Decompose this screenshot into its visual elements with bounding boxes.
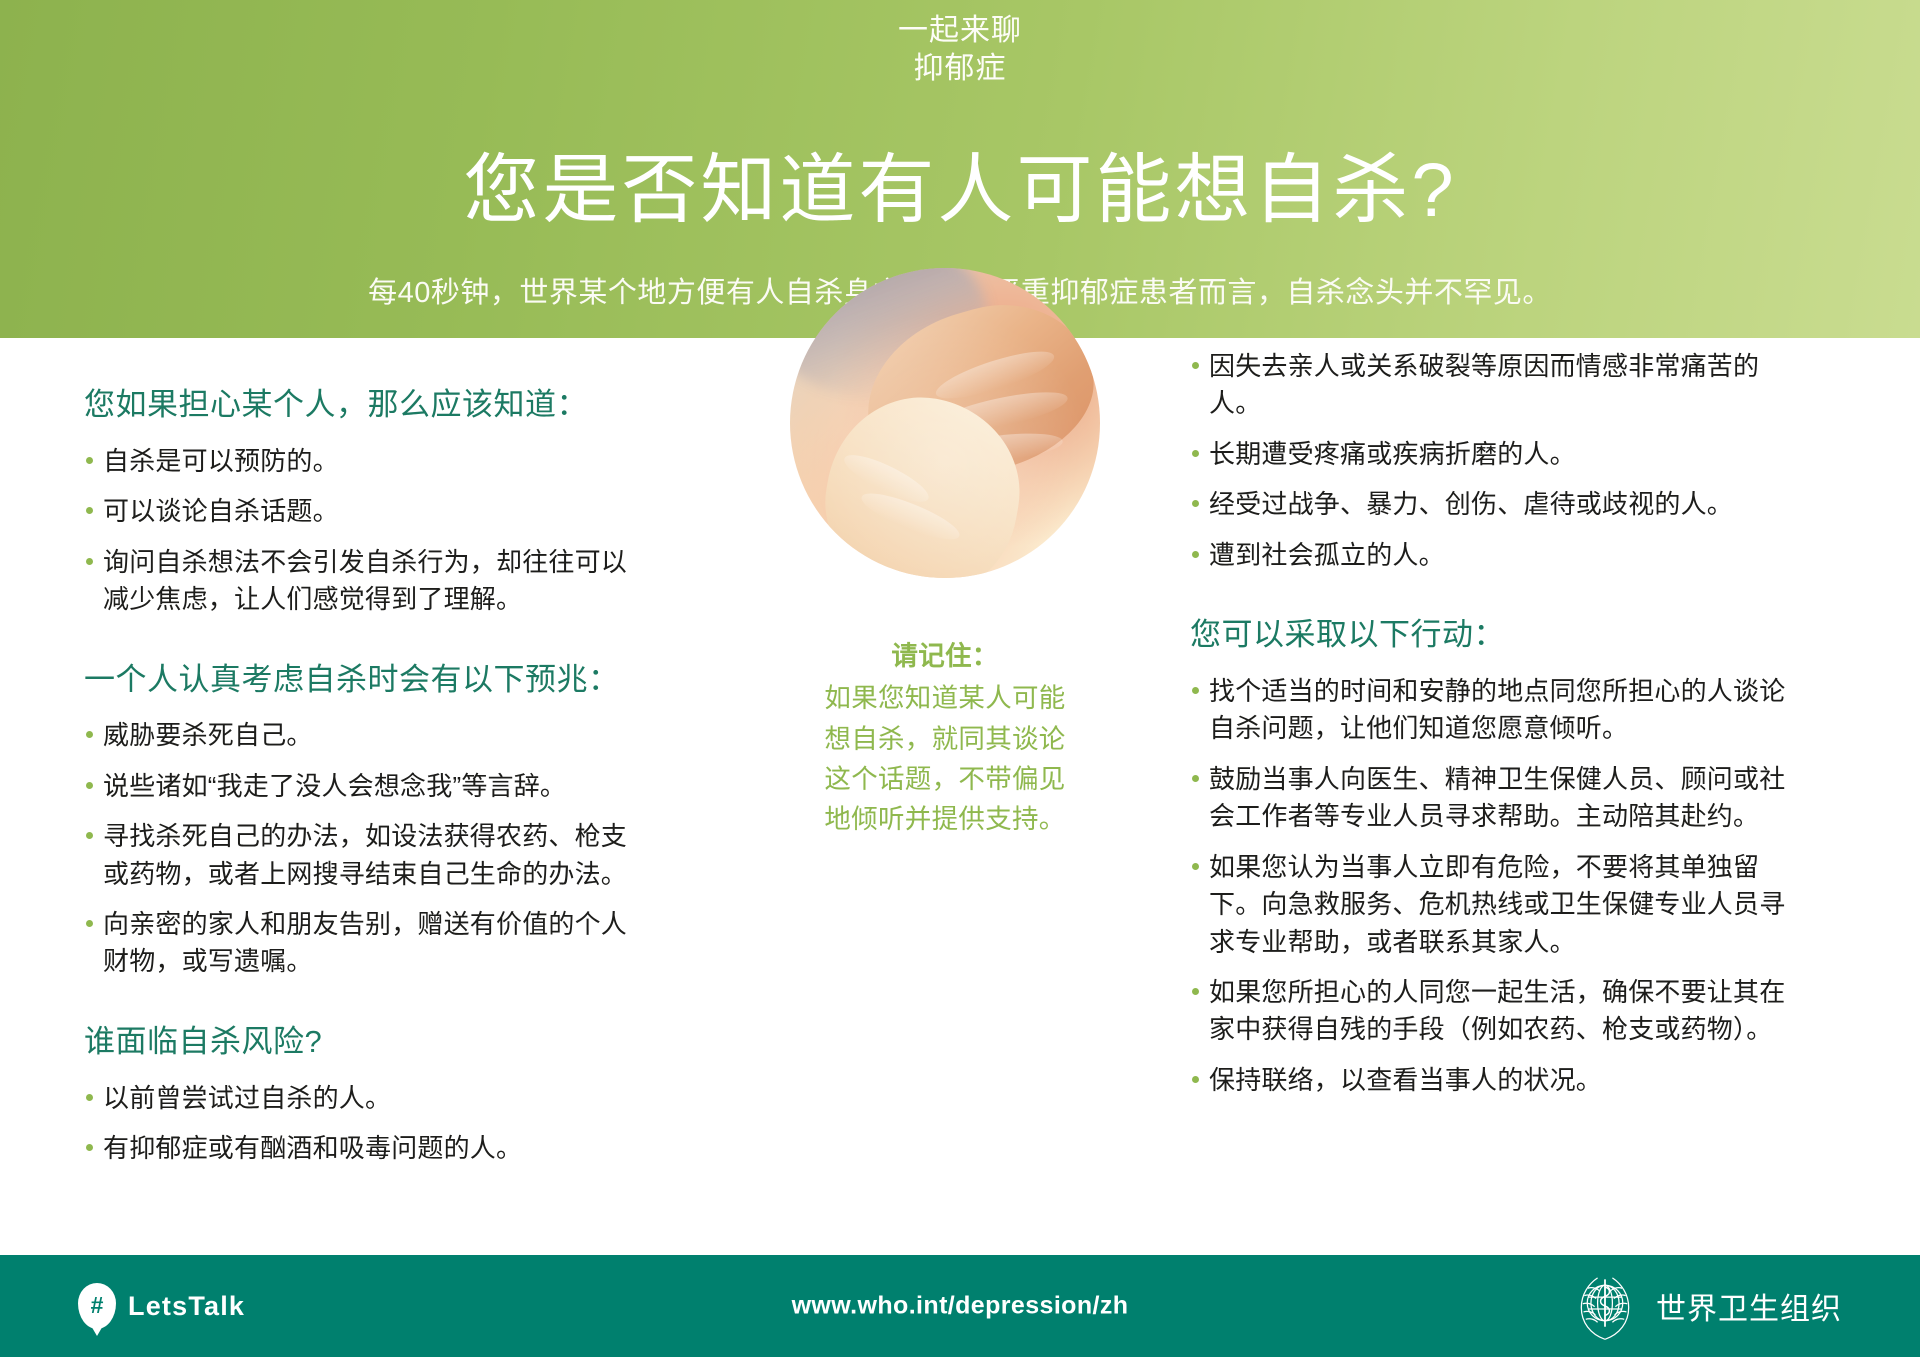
list-item: 如果您所担心的人同您一起生活，确保不要让其在家中获得自残的手段（例如农药、枪支或… <box>1190 974 1810 1049</box>
list-what-to-know: 自杀是可以预防的。 可以谈论自杀话题。 询问自杀想法不会引发自杀行为，却往往可以… <box>84 443 644 619</box>
list-item: 威胁要杀死自己。 <box>84 717 644 754</box>
list-item: 保持联络，以查看当事人的状况。 <box>1190 1062 1810 1099</box>
who-logo: 世界卫生组织 <box>1568 1269 1842 1343</box>
list-item: 可以谈论自杀话题。 <box>84 493 644 530</box>
right-column: 因失去亲人或关系破裂等原因而情感非常痛苦的人。 长期遭受疼痛或疾病折磨的人。 经… <box>1190 338 1810 1112</box>
poster-body: 您如果担心某个人，那么应该知道： 自杀是可以预防的。 可以谈论自杀话题。 询问自… <box>0 338 1920 1255</box>
who-emblem-icon <box>1568 1269 1642 1343</box>
campaign-line-1: 一起来聊 <box>0 12 1920 50</box>
list-item: 经受过战争、暴力、创伤、虐待或歧视的人。 <box>1190 486 1810 523</box>
list-item: 以前曾尝试过自杀的人。 <box>84 1080 644 1117</box>
section-heading-warning-signs: 一个人认真考虑自杀时会有以下预兆： <box>84 661 644 700</box>
remember-body: 如果您知道某人可能 想自杀，就同其谈论 这个话题，不带偏见 地倾听并提供支持。 <box>765 678 1125 839</box>
list-item: 寻找杀死自己的办法，如设法获得农药、枪支或药物，或者上网搜寻结束自己生命的办法。 <box>84 818 644 893</box>
list-item: 如果您认为当事人立即有危险，不要将其单独留下。向急救服务、危机热线或卫生保健专业… <box>1190 849 1810 961</box>
list-item: 找个适当的时间和安静的地点同您所担心的人谈论自杀问题，让他们知道您愿意倾听。 <box>1190 673 1810 748</box>
list-who-is-at-risk: 以前曾尝试过自杀的人。 有抑郁症或有酗酒和吸毒问题的人。 <box>84 1080 644 1168</box>
section-actions: 您可以采取以下行动： 找个适当的时间和安静的地点同您所担心的人谈论自杀问题，让他… <box>1190 616 1810 1099</box>
list-item: 因失去亲人或关系破裂等原因而情感非常痛苦的人。 <box>1190 348 1810 423</box>
list-item: 鼓励当事人向医生、精神卫生保健人员、顾问或社会工作者等专业人员寻求帮助。主动陪其… <box>1190 761 1810 836</box>
list-item: 向亲密的家人和朋友告别，赠送有价值的个人财物，或写遗嘱。 <box>84 906 644 981</box>
section-warning-signs: 一个人认真考虑自杀时会有以下预兆： 威胁要杀死自己。 说些诸如“我走了没人会想念… <box>84 661 644 981</box>
list-item: 询问自杀想法不会引发自杀行为，却往往可以减少焦虑，让人们感觉得到了理解。 <box>84 544 644 619</box>
illustration-glow <box>790 268 1100 578</box>
center-column: 请记住： 如果您知道某人可能 想自杀，就同其谈论 这个话题，不带偏见 地倾听并提… <box>765 268 1125 839</box>
section-who-is-at-risk: 谁面临自杀风险? 以前曾尝试过自杀的人。 有抑郁症或有酗酒和吸毒问题的人。 <box>84 1023 644 1168</box>
section-heading-what-to-know: 您如果担心某个人，那么应该知道： <box>84 386 644 425</box>
remember-line: 这个话题，不带偏见 <box>765 759 1125 799</box>
section-what-to-know: 您如果担心某个人，那么应该知道： 自杀是可以预防的。 可以谈论自杀话题。 询问自… <box>84 386 644 619</box>
list-risk-groups: 因失去亲人或关系破裂等原因而情感非常痛苦的人。 长期遭受疼痛或疾病折磨的人。 经… <box>1190 348 1810 574</box>
poster-footer: # LetsTalk www.who.int/depression/zh <box>0 1255 1920 1357</box>
list-item: 长期遭受疼痛或疾病折磨的人。 <box>1190 436 1810 473</box>
remember-heading: 请记住： <box>765 636 1125 676</box>
list-item: 说些诸如“我走了没人会想念我”等言辞。 <box>84 768 644 805</box>
who-organization-name: 世界卫生组织 <box>1656 1284 1842 1328</box>
page-title: 您是否知道有人可能想自杀? <box>0 151 1920 230</box>
section-risk-groups: 因失去亲人或关系破裂等原因而情感非常痛苦的人。 长期遭受疼痛或疾病折磨的人。 经… <box>1190 348 1810 574</box>
list-item: 自杀是可以预防的。 <box>84 443 644 480</box>
poster: 一起来聊 抑郁症 您是否知道有人可能想自杀? 每40秒钟，世界某个地方便有人自杀… <box>0 0 1920 1357</box>
remember-line: 如果您知道某人可能 <box>765 678 1125 718</box>
campaign-name: 一起来聊 抑郁症 <box>0 12 1920 89</box>
list-item: 遭到社会孤立的人。 <box>1190 537 1810 574</box>
remember-callout: 请记住： 如果您知道某人可能 想自杀，就同其谈论 这个话题，不带偏见 地倾听并提… <box>765 636 1125 839</box>
section-heading-who-is-at-risk: 谁面临自杀风险? <box>84 1023 644 1062</box>
remember-line: 想自杀，就同其谈论 <box>765 719 1125 759</box>
two-hands-reaching-illustration <box>790 268 1100 578</box>
list-warning-signs: 威胁要杀死自己。 说些诸如“我走了没人会想念我”等言辞。 寻找杀死自己的办法，如… <box>84 717 644 981</box>
list-item: 有抑郁症或有酗酒和吸毒问题的人。 <box>84 1130 644 1167</box>
section-heading-actions: 您可以采取以下行动： <box>1190 616 1810 655</box>
campaign-line-2: 抑郁症 <box>0 50 1920 88</box>
remember-line: 地倾听并提供支持。 <box>765 799 1125 839</box>
list-actions: 找个适当的时间和安静的地点同您所担心的人谈论自杀问题，让他们知道您愿意倾听。 鼓… <box>1190 673 1810 1099</box>
left-column: 您如果担心某个人，那么应该知道： 自杀是可以预防的。 可以谈论自杀话题。 询问自… <box>84 338 644 1181</box>
